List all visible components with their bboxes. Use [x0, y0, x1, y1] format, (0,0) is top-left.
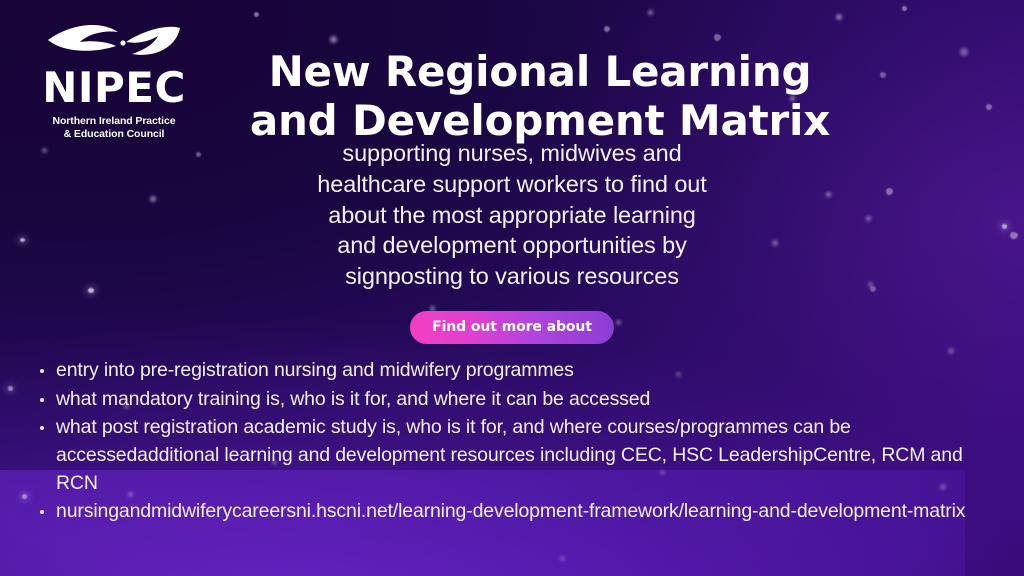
page-subtitle-line-1: supporting nurses, midwives and	[262, 138, 762, 169]
page-subtitle: supporting nurses, midwives and healthca…	[262, 138, 762, 292]
nipec-subline-2: & Education Council	[64, 128, 165, 140]
nipec-subline-1: Northern Ireland Practice	[53, 115, 176, 127]
nipec-subline: Northern Ireland Practice & Education Co…	[34, 115, 194, 142]
list-item: entry into pre-registration nursing and …	[36, 357, 988, 385]
page-title: New Regional Learning and Development Ma…	[210, 48, 870, 145]
page-subtitle-line-5: signposting to various resources	[262, 261, 762, 292]
nipec-wordmark: NIPEC	[34, 67, 194, 109]
cta-container: Find out more about	[0, 311, 1024, 344]
list-item-url[interactable]: nursingandmidwiferycareersni.hscni.net/l…	[36, 498, 988, 526]
info-bullet-list: entry into pre-registration nursing and …	[36, 357, 988, 527]
find-out-more-button[interactable]: Find out more about	[410, 311, 614, 344]
list-item: what post registration academic study is…	[36, 414, 988, 497]
page-subtitle-line-4: and development opportunities by	[262, 230, 762, 261]
poster-canvas: NIPEC Northern Ireland Practice & Educat…	[0, 0, 1024, 576]
page-subtitle-line-2: healthcare support workers to find out	[262, 169, 762, 200]
nipec-logo: NIPEC Northern Ireland Practice & Educat…	[34, 18, 194, 142]
nipec-swoosh-icon	[44, 18, 184, 66]
page-subtitle-line-3: about the most appropriate learning	[262, 200, 762, 231]
page-title-line-1: New Regional Learning	[210, 48, 870, 97]
list-item: what mandatory training is, who is it fo…	[36, 386, 988, 414]
